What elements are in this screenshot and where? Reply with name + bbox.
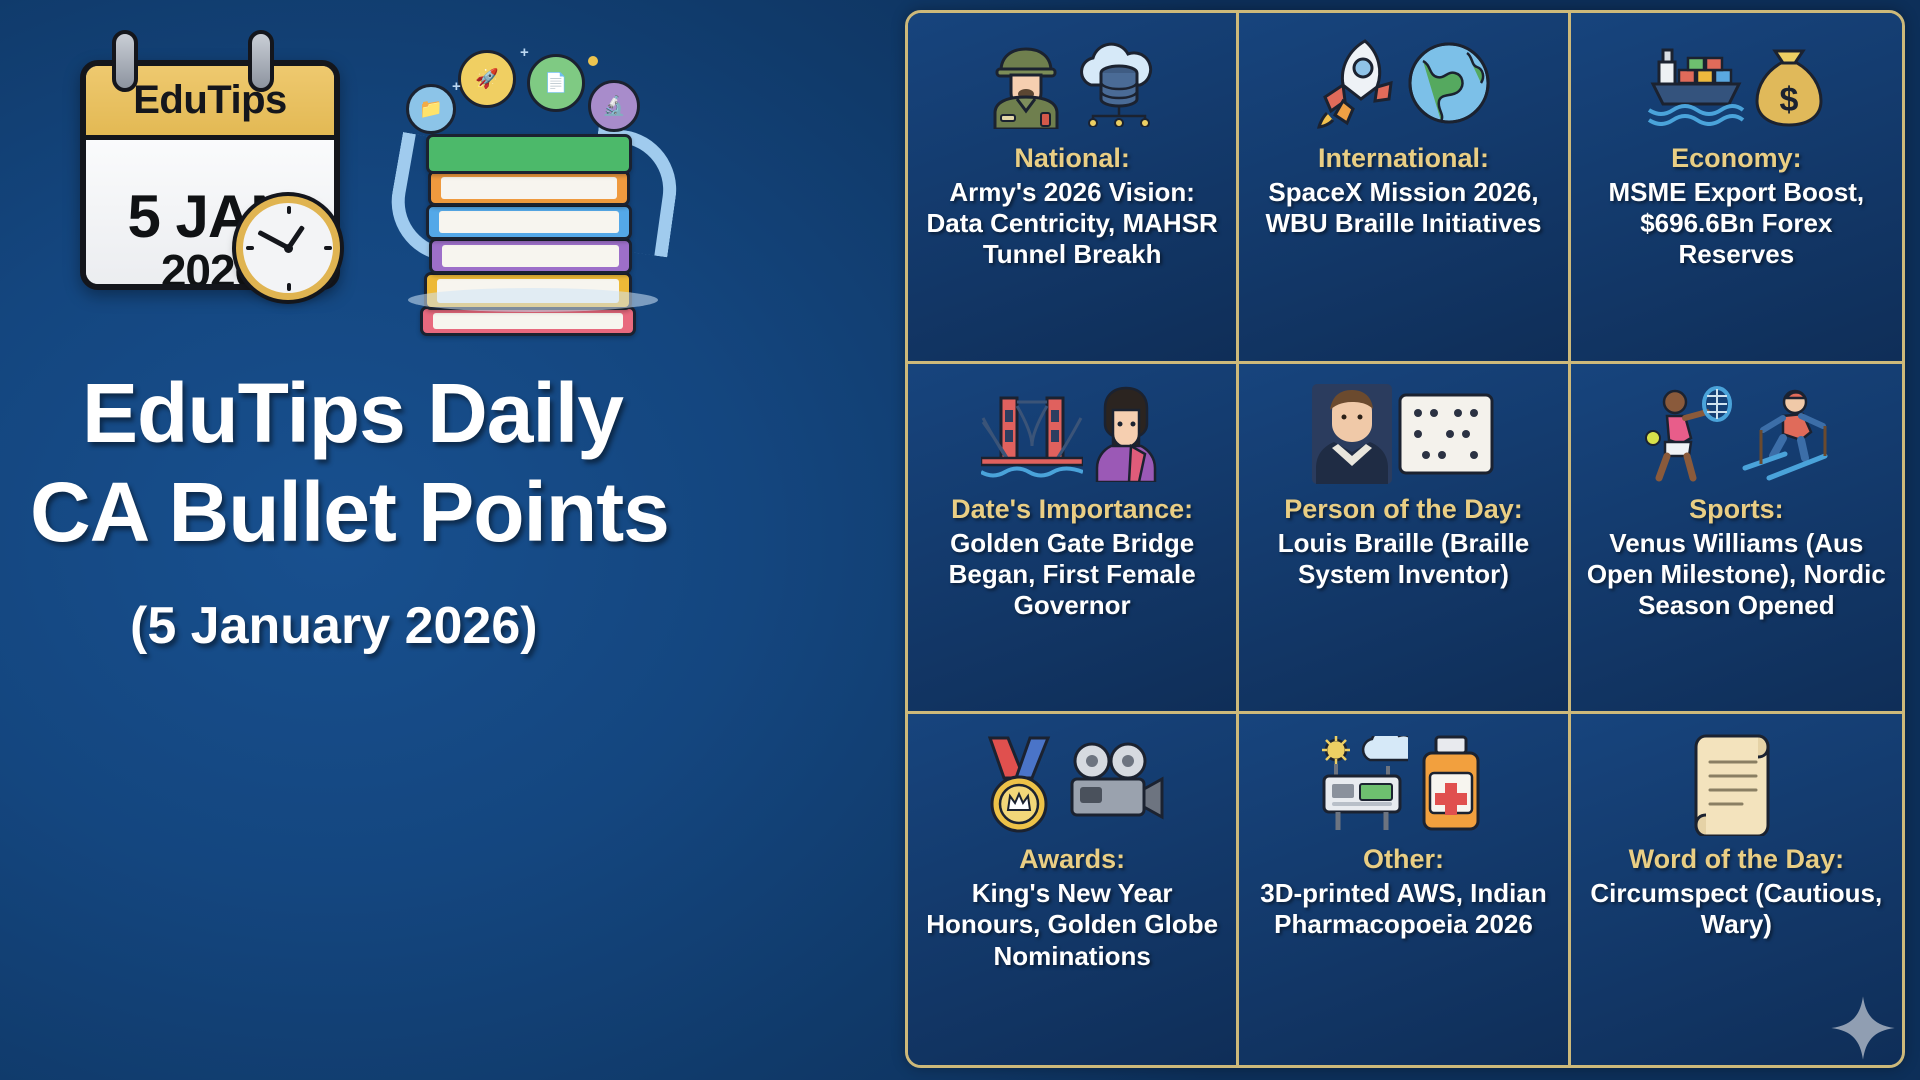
cell-icons (981, 378, 1163, 490)
grid-cell-other[interactable]: Other: 3D-printed AWS, Indian Pharmacopo… (1239, 714, 1570, 1065)
dot-icon (588, 56, 598, 66)
golden-gate-bridge-icon (981, 388, 1083, 480)
calendar-ring-left (112, 30, 138, 92)
cell-icons (1313, 27, 1493, 139)
grid-cell-dates-importance[interactable]: Date's Importance: Golden Gate Bridge Be… (908, 364, 1239, 715)
cell-heading: Date's Importance: (951, 494, 1193, 526)
book-green (426, 134, 632, 174)
cell-body: 3D-printed AWS, Indian Pharmacopoeia 202… (1247, 878, 1559, 940)
medal-icon (978, 734, 1060, 834)
cell-heading: Economy: (1671, 143, 1802, 175)
rocket-bubble-icon: 🚀 (458, 50, 516, 108)
sparkle-dot-icon: + (520, 44, 529, 61)
scroll-icon (1688, 732, 1784, 836)
cell-icons: $ (1645, 27, 1827, 139)
cell-icons (1688, 728, 1784, 840)
cell-icons (987, 27, 1157, 139)
cell-body: MSME Export Boost, $696.6Bn Forex Reserv… (1579, 177, 1894, 271)
grid-cell-sports[interactable]: Sports: Venus Williams (Aus Open Milesto… (1571, 364, 1902, 715)
braille-cell-icon (1398, 393, 1494, 475)
cell-heading: Other: (1363, 844, 1444, 876)
medicine-bottle-icon (1414, 735, 1490, 833)
poster-canvas: EduTips 5 JAN 2026 📁 🚀 📄 🔬 + + (0, 0, 1920, 1080)
folder-bubble-icon: 📁 (406, 84, 456, 134)
tennis-player-icon (1641, 386, 1733, 482)
book-purple (429, 238, 632, 274)
page-title-line1: EduTips Daily (30, 364, 770, 463)
cell-body: Louis Braille (Braille System Inventor) (1247, 528, 1559, 590)
film-camera-icon (1066, 741, 1166, 827)
cell-heading: Awards: (1019, 844, 1125, 876)
cell-heading: National: (1014, 143, 1130, 175)
cell-body: Venus Williams (Aus Open Milestone), Nor… (1579, 528, 1894, 622)
book-stack-illustration: 📁 🚀 📄 🔬 + + (392, 26, 672, 316)
weather-station-icon (1316, 736, 1408, 832)
cell-body: Army's 2026 Vision: Data Centricity, MAH… (916, 177, 1228, 271)
grid-cell-person-of-the-day[interactable]: Person of the Day: Louis Braille (Braill… (1239, 364, 1570, 715)
calendar-icon: EduTips 5 JAN 2026 (68, 28, 368, 318)
left-panel: EduTips 5 JAN 2026 📁 🚀 📄 🔬 + + (0, 0, 905, 1080)
cargo-ship-icon (1645, 40, 1745, 126)
cell-body: Golden Gate Bridge Began, First Female G… (916, 528, 1228, 622)
skier-icon (1739, 386, 1831, 482)
louis-braille-portrait-icon (1312, 384, 1392, 484)
cell-icons (978, 728, 1166, 840)
grid-cell-awards[interactable]: Awards: King's New Year Honours, Golden … (908, 714, 1239, 1065)
cell-body: SpaceX Mission 2026, WBU Braille Initiat… (1247, 177, 1559, 239)
cell-heading: International: (1318, 143, 1489, 175)
grid-cell-word-of-the-day[interactable]: Word of the Day: Circumspect (Cautious, … (1571, 714, 1902, 1065)
page-subtitle: (5 January 2026) (30, 596, 770, 656)
book-shadow (408, 288, 658, 312)
soldier-icon (987, 37, 1065, 129)
woman-in-saree-icon (1089, 386, 1163, 482)
book-orange (428, 170, 630, 206)
globe-icon (1405, 39, 1493, 127)
rocket-icon (1313, 35, 1399, 131)
grid-cell-economy[interactable]: $ Economy: MSME Export Boost, $696.6Bn F… (1571, 13, 1902, 364)
cell-body: Circumspect (Cautious, Wary) (1579, 878, 1894, 940)
cell-heading: Person of the Day: (1284, 494, 1523, 526)
page-title: EduTips Daily CA Bullet Points (30, 364, 770, 562)
page-title-line2: CA Bullet Points (30, 463, 770, 562)
cell-heading: Sports: (1689, 494, 1784, 526)
cloud-database-icon (1071, 39, 1157, 127)
grid-cell-national[interactable]: National: Army's 2026 Vision: Data Centr… (908, 13, 1239, 364)
sparkle-icon (1830, 995, 1896, 1061)
document-bubble-icon: 📄 (527, 54, 585, 112)
books-stack (426, 134, 638, 312)
sparkle-dot-icon: + (452, 78, 461, 95)
book-blue (426, 204, 632, 240)
calendar-ring-right (248, 30, 274, 92)
cell-body: King's New Year Honours, Golden Globe No… (916, 878, 1228, 972)
cell-icons (1641, 378, 1831, 490)
svg-text:$: $ (1780, 81, 1799, 119)
news-grid: National: Army's 2026 Vision: Data Centr… (905, 10, 1905, 1068)
cell-heading: Word of the Day: (1629, 844, 1845, 876)
cell-icons (1316, 728, 1490, 840)
cell-icons (1312, 378, 1494, 490)
science-bubble-icon: 🔬 (588, 80, 640, 132)
clock-icon (236, 196, 340, 300)
money-bag-icon: $ (1751, 37, 1827, 129)
grid-cell-international[interactable]: International: SpaceX Mission 2026, WBU … (1239, 13, 1570, 364)
